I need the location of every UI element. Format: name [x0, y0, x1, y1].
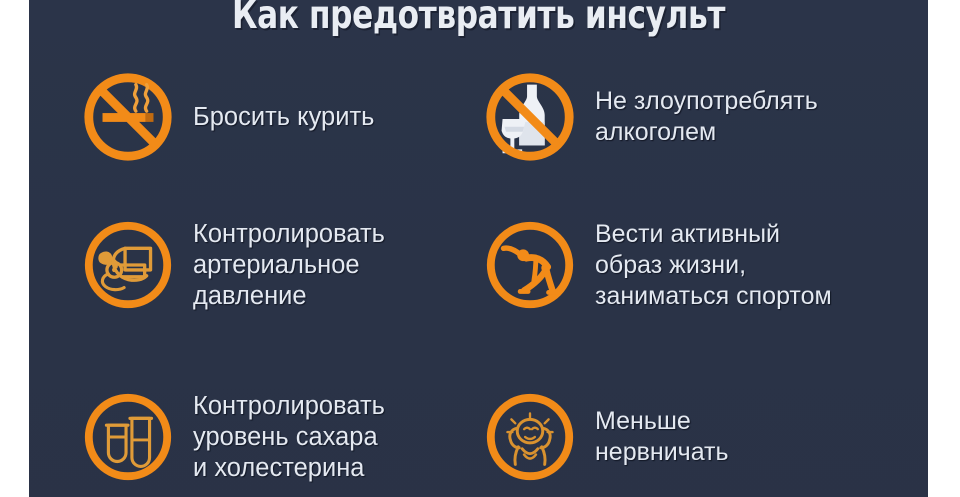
test-tubes-icon: [79, 388, 177, 486]
tip-label: Бросить курить: [193, 102, 374, 133]
stressed-person-icon: [481, 388, 579, 486]
no-smoking-icon: [79, 68, 177, 166]
tips-grid: Бросить курить: [29, 46, 928, 497]
tip-item-limit-alcohol: Не злоупотреблять алкоголем: [481, 56, 911, 178]
infographic-slide: Как предотвратить инсульт Б: [0, 0, 960, 497]
no-alcohol-icon: [481, 68, 579, 166]
tip-item-control-sugar-cholesterol: Контролировать уровень сахара и холестер…: [79, 376, 479, 497]
exercise-person-icon: [481, 216, 579, 314]
slide-panel: Как предотвратить инсульт Б: [29, 0, 928, 497]
page-title: Как предотвратить инсульт: [119, 0, 838, 38]
tip-item-active-lifestyle: Вести активный образ жизни, заниматься с…: [481, 204, 911, 326]
tip-item-quit-smoking: Бросить курить: [79, 56, 479, 178]
tip-label: Контролировать артериальное давление: [193, 219, 385, 312]
tip-item-control-blood-pressure: Контролировать артериальное давление: [79, 204, 479, 326]
tip-label: Вести активный образ жизни, заниматься с…: [595, 219, 832, 312]
blood-pressure-monitor-icon: [79, 216, 177, 314]
tip-label: Контролировать уровень сахара и холестер…: [193, 391, 385, 484]
tip-label: Не злоупотреблять алкоголем: [595, 86, 818, 148]
tip-label: Меньше нервничать: [595, 406, 729, 468]
tip-item-less-stress: Меньше нервничать: [481, 376, 911, 497]
